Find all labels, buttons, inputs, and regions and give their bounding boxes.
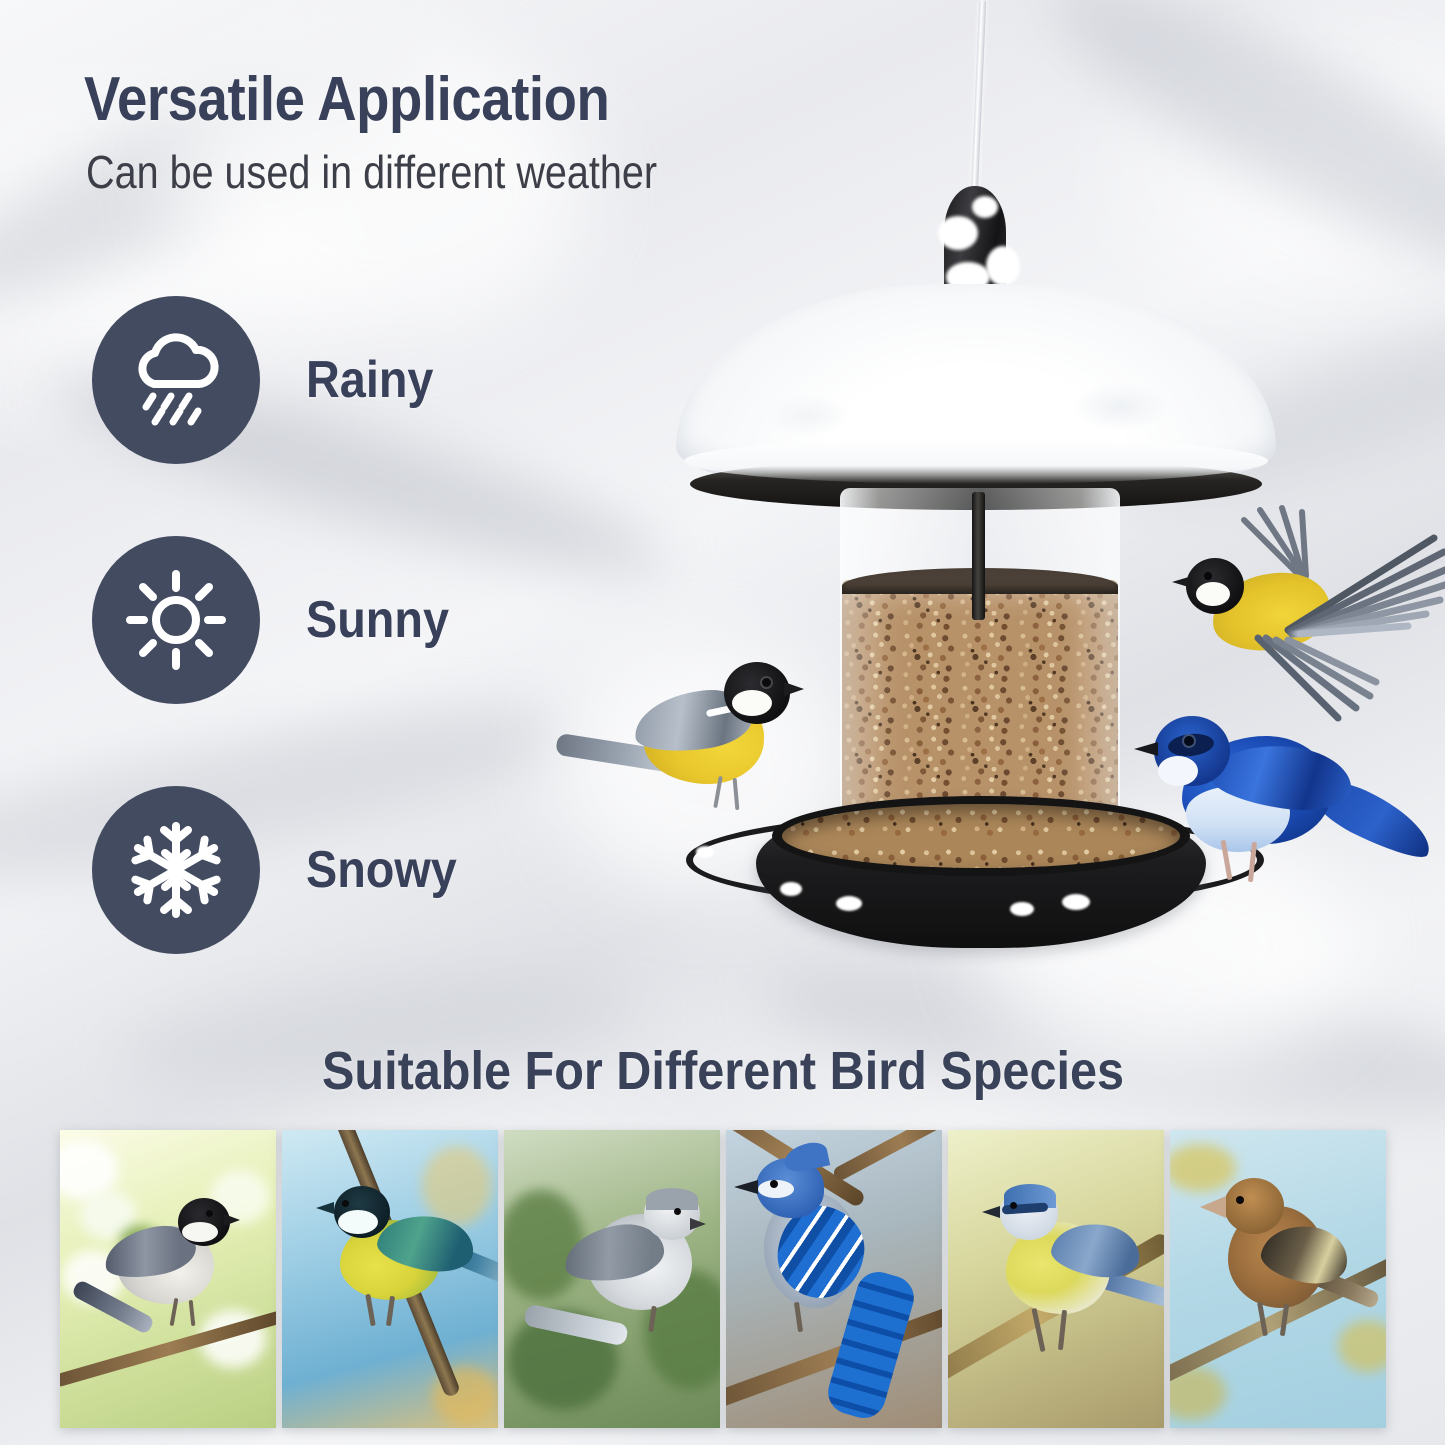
bird-beak <box>1134 742 1158 756</box>
product-infographic-poster: Versatile Application Can be used in dif… <box>0 0 1445 1445</box>
bird-beak <box>224 1214 240 1226</box>
background-bokeh <box>422 1146 492 1226</box>
blue-robin-perched <box>1150 694 1440 904</box>
snow-clump <box>986 246 1020 286</box>
species-photo-great-tit[interactable] <box>282 1130 498 1428</box>
bird-eye <box>1184 736 1194 746</box>
bird-eye <box>206 1210 213 1217</box>
bird-throat-patch <box>1158 756 1198 786</box>
tray-seed <box>782 804 1180 868</box>
bird-leg <box>733 778 740 810</box>
species-photo-hawfinch[interactable] <box>1170 1130 1386 1428</box>
hanging-cord <box>971 0 987 196</box>
roof-snow-lip <box>684 438 1268 484</box>
bird-beak <box>982 1206 1000 1218</box>
bird-beak <box>1200 1196 1226 1218</box>
species-photo-gray-jay[interactable] <box>504 1130 720 1428</box>
bird-beak <box>784 682 804 696</box>
bird-eye <box>1236 1196 1244 1204</box>
product-bird-feeder <box>0 0 1445 1050</box>
bird-cheek-patch <box>182 1222 218 1242</box>
bird-eye <box>770 1180 778 1188</box>
bird-cheek-patch <box>338 1210 378 1234</box>
bird-eye <box>674 1208 681 1215</box>
bird-beak <box>734 1180 758 1194</box>
species-photo-chickadee[interactable] <box>60 1130 276 1428</box>
bird-cheek-patch <box>732 690 772 716</box>
snow-fleck <box>780 882 802 896</box>
species-photo-blue-tit[interactable] <box>948 1130 1164 1428</box>
great-tit-perched <box>556 656 796 826</box>
bird-species-photo-strip <box>0 1130 1445 1430</box>
bird-cheek-patch <box>1196 582 1230 606</box>
bird-beak <box>316 1202 334 1214</box>
bird-beak <box>1172 576 1192 588</box>
section-title-bird-species: Suitable For Different Bird Species <box>321 1040 1123 1102</box>
bird-eye <box>1204 572 1212 580</box>
snow-fleck <box>1062 894 1090 910</box>
bird-eye <box>1010 1202 1017 1209</box>
great-tit-flying <box>1166 498 1445 718</box>
bird-eye <box>762 678 771 687</box>
bird-head <box>1224 1178 1284 1234</box>
snow-clump <box>938 216 978 250</box>
snow-fleck <box>696 846 714 858</box>
species-photo-blue-jay[interactable] <box>726 1130 942 1428</box>
bird-beak <box>690 1218 706 1230</box>
bird-eye <box>342 1200 349 1207</box>
snow-fleck <box>1010 902 1034 916</box>
bird-upper-wing <box>1284 534 1445 638</box>
center-post <box>972 492 985 620</box>
bird-crown <box>646 1188 698 1210</box>
snow-clump <box>972 196 998 218</box>
snow-fleck <box>836 896 862 911</box>
